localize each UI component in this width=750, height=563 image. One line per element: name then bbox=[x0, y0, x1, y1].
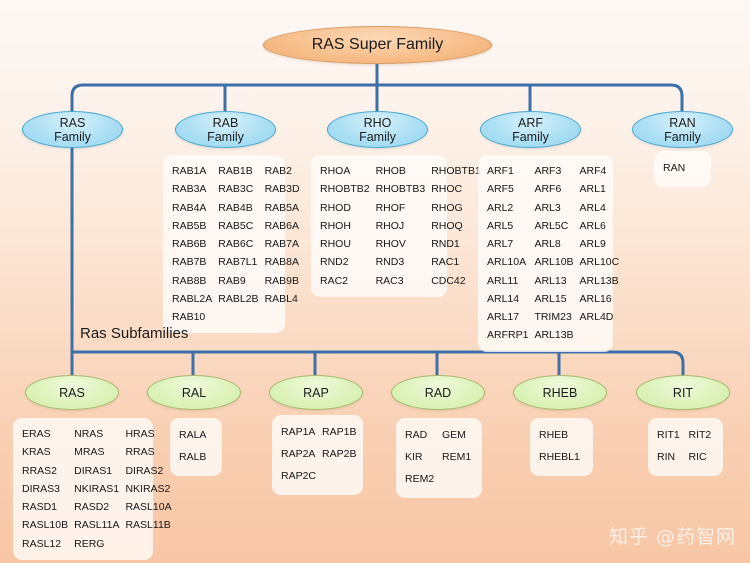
node-ras-super-family-label: RAS Super Family bbox=[312, 36, 444, 54]
gene-name: RASD2 bbox=[74, 499, 119, 515]
gene-name: ARL8 bbox=[534, 236, 573, 252]
gene-name: RHOD bbox=[320, 200, 370, 216]
gene-name: RAB9B bbox=[265, 273, 300, 289]
gene-name: RAC1 bbox=[431, 254, 481, 270]
node-subfamily-ral[interactable]: RAL bbox=[147, 375, 241, 410]
node-family-rho[interactable]: RHO Family bbox=[327, 111, 428, 148]
gene-list-sub-rheb: RHEBRHEBL1 bbox=[539, 426, 584, 468]
gene-name: ARL5C bbox=[534, 218, 573, 234]
gene-name: RAP1B bbox=[322, 423, 356, 443]
gene-name: ARL1 bbox=[580, 181, 620, 197]
gene-name: RAB1A bbox=[172, 163, 212, 179]
gene-name: DIRAS2 bbox=[125, 463, 171, 479]
gene-name: RAD bbox=[405, 426, 436, 446]
wire-family-bus bbox=[72, 85, 682, 96]
node-family-arf[interactable]: ARF Family bbox=[480, 111, 581, 148]
wire-subfamily-bus bbox=[72, 352, 683, 363]
gene-name: RASL10B bbox=[22, 517, 68, 533]
gene-name: ARL11 bbox=[487, 273, 528, 289]
gene-name: ARF1 bbox=[487, 163, 528, 179]
node-subfamily-rheb-label: RHEB bbox=[543, 386, 578, 400]
gene-name: ARL2 bbox=[487, 200, 528, 216]
diagram-canvas: RAS Super Family RAS Family RAB Family R… bbox=[0, 0, 750, 563]
node-subfamily-ras[interactable]: RAS bbox=[25, 375, 119, 410]
watermark: 知乎 @药智网 bbox=[609, 522, 736, 549]
gene-name: RRAS2 bbox=[22, 463, 68, 479]
gene-name: RABL2A bbox=[172, 291, 212, 307]
gene-name: RASL11B bbox=[125, 517, 171, 533]
gene-name: RASL10A bbox=[125, 499, 171, 515]
gene-name: RAB4A bbox=[172, 200, 212, 216]
node-subfamily-rheb[interactable]: RHEB bbox=[513, 375, 607, 410]
gene-name: RIT1 bbox=[657, 426, 683, 446]
gene-list-sub-rad: RADGEMKIRREM1REM2 bbox=[405, 426, 473, 490]
gene-name: RAB2 bbox=[265, 163, 300, 179]
gene-name: RAP2A bbox=[281, 445, 316, 465]
gene-name: RAN bbox=[663, 159, 702, 179]
gene-name: ARL10C bbox=[580, 254, 620, 270]
gene-name: RAC3 bbox=[376, 273, 426, 289]
gene-name: RRAS bbox=[125, 444, 171, 460]
gene-name: RHOQ bbox=[431, 218, 481, 234]
gene-name: RAB10 bbox=[172, 309, 212, 325]
gene-name: RND2 bbox=[320, 254, 370, 270]
gene-name: ARL10A bbox=[487, 254, 528, 270]
gene-list-arf: ARF1ARF3ARF4ARF5ARF6ARL1ARL2ARL3ARL4ARL5… bbox=[487, 163, 604, 344]
gene-name: KRAS bbox=[22, 444, 68, 460]
gene-name: ARL13B bbox=[534, 327, 573, 343]
gene-name: RIT2 bbox=[689, 426, 715, 446]
gene-name: RND3 bbox=[376, 254, 426, 270]
gene-name: RHOC bbox=[431, 181, 481, 197]
gene-name: DIRAS3 bbox=[22, 481, 68, 497]
gene-name: RHOG bbox=[431, 200, 481, 216]
gene-list-sub-ral: RALARALB bbox=[179, 426, 213, 468]
gene-name: RASD1 bbox=[22, 499, 68, 515]
gene-name: CDC42 bbox=[431, 273, 481, 289]
node-family-arf-label: ARF Family bbox=[512, 116, 549, 144]
gene-name: RND1 bbox=[431, 236, 481, 252]
gene-list-sub-rap: RAP1ARAP1BRAP2ARAP2BRAP2C bbox=[281, 423, 354, 487]
gene-name: RIN bbox=[657, 448, 683, 468]
gene-name: RAB7L1 bbox=[218, 254, 258, 270]
gene-name: ARL5 bbox=[487, 218, 528, 234]
gene-name: RHOB bbox=[376, 163, 426, 179]
gene-name: GEM bbox=[442, 426, 473, 446]
node-subfamily-rit-label: RIT bbox=[673, 386, 693, 400]
gene-name: RAB6B bbox=[172, 236, 212, 252]
gene-panel-sub-rap: RAP1ARAP1BRAP2ARAP2BRAP2C bbox=[272, 415, 363, 495]
gene-name: RASL12 bbox=[22, 536, 68, 552]
gene-name: RAB5C bbox=[218, 218, 258, 234]
gene-name: ARL13B bbox=[580, 273, 620, 289]
gene-name: RABL4 bbox=[265, 291, 300, 307]
gene-name: ARL17 bbox=[487, 309, 528, 325]
node-ras-super-family[interactable]: RAS Super Family bbox=[263, 26, 492, 64]
gene-name: ARF6 bbox=[534, 181, 573, 197]
gene-name: MRAS bbox=[74, 444, 119, 460]
gene-name: NKIRAS1 bbox=[74, 481, 119, 497]
gene-panel-sub-ras: ERASNRASHRASKRASMRASRRASRRAS2DIRAS1DIRAS… bbox=[13, 418, 153, 560]
gene-name: KIR bbox=[405, 448, 436, 468]
gene-name: RAB3D bbox=[265, 181, 300, 197]
gene-list-rab: RAB1ARAB1BRAB2RAB3ARAB3CRAB3DRAB4ARAB4BR… bbox=[172, 163, 276, 325]
gene-name: ARFRP1 bbox=[487, 327, 528, 343]
gene-name: RHOH bbox=[320, 218, 370, 234]
gene-panel-arf: ARF1ARF3ARF4ARF5ARF6ARL1ARL2ARL3ARL4ARL5… bbox=[478, 155, 613, 352]
node-subfamily-rad-label: RAD bbox=[425, 386, 451, 400]
node-family-rho-label: RHO Family bbox=[359, 116, 396, 144]
node-family-rab-label: RAB Family bbox=[207, 116, 244, 144]
gene-name: DIRAS1 bbox=[74, 463, 119, 479]
gene-list-rho: RHOARHOBRHOBTB1RHOBTB2RHOBTB3RHOCRHODRHO… bbox=[320, 163, 438, 289]
gene-name: RASL11A bbox=[74, 517, 119, 533]
gene-name: REM1 bbox=[442, 448, 473, 468]
gene-panel-rho: RHOARHOBRHOBTB1RHOBTB2RHOBTB3RHOCRHODRHO… bbox=[311, 155, 447, 297]
gene-name: REM2 bbox=[405, 470, 436, 490]
node-subfamily-rap-label: RAP bbox=[303, 386, 329, 400]
gene-name: RAB9 bbox=[218, 273, 258, 289]
node-family-ras-label: RAS Family bbox=[54, 116, 91, 144]
gene-name: ARL7 bbox=[487, 236, 528, 252]
gene-name: RAB3A bbox=[172, 181, 212, 197]
gene-name: RAP2B bbox=[322, 445, 356, 465]
gene-name: RHOBTB1 bbox=[431, 163, 481, 179]
gene-name: RHOV bbox=[376, 236, 426, 252]
node-subfamily-rad[interactable]: RAD bbox=[391, 375, 485, 410]
gene-name: RAC2 bbox=[320, 273, 370, 289]
gene-name: RAB6C bbox=[218, 236, 258, 252]
gene-name: RHEB bbox=[539, 426, 584, 446]
gene-name: RABL2B bbox=[218, 291, 258, 307]
gene-name: RHOA bbox=[320, 163, 370, 179]
gene-name: RAP1A bbox=[281, 423, 316, 443]
gene-name: ARL6 bbox=[580, 218, 620, 234]
node-subfamily-rap[interactable]: RAP bbox=[269, 375, 363, 410]
node-family-rab[interactable]: RAB Family bbox=[175, 111, 276, 148]
node-subfamily-ral-label: RAL bbox=[182, 386, 206, 400]
gene-name: ARF4 bbox=[580, 163, 620, 179]
gene-panel-sub-rheb: RHEBRHEBL1 bbox=[530, 418, 593, 476]
gene-panel-ran: RAN bbox=[654, 151, 711, 187]
gene-list-sub-ras: ERASNRASHRASKRASMRASRRASRRAS2DIRAS1DIRAS… bbox=[22, 426, 144, 552]
gene-name: RAB6A bbox=[265, 218, 300, 234]
gene-panel-sub-ral: RALARALB bbox=[170, 418, 222, 476]
gene-name: NKIRAS2 bbox=[125, 481, 171, 497]
gene-name: RAB8A bbox=[265, 254, 300, 270]
gene-name: RAB5B bbox=[172, 218, 212, 234]
gene-name: RAB8B bbox=[172, 273, 212, 289]
gene-name: ARL3 bbox=[534, 200, 573, 216]
gene-name: RHOBTB2 bbox=[320, 181, 370, 197]
gene-name: ERAS bbox=[22, 426, 68, 442]
gene-name: NRAS bbox=[74, 426, 119, 442]
gene-name: ARL4D bbox=[580, 309, 620, 325]
node-subfamily-ras-label: RAS bbox=[59, 386, 85, 400]
gene-name: RHOF bbox=[376, 200, 426, 216]
gene-name: RAB3C bbox=[218, 181, 258, 197]
gene-name: RIC bbox=[689, 448, 715, 468]
gene-name: RAB5A bbox=[265, 200, 300, 216]
gene-list-sub-rit: RIT1RIT2RINRIC bbox=[657, 426, 714, 468]
gene-name: ARL9 bbox=[580, 236, 620, 252]
gene-name: ARL4 bbox=[580, 200, 620, 216]
gene-panel-sub-rad: RADGEMKIRREM1REM2 bbox=[396, 418, 482, 498]
gene-name: RHOU bbox=[320, 236, 370, 252]
gene-name: RHOJ bbox=[376, 218, 426, 234]
gene-name: RAP2C bbox=[281, 467, 316, 487]
gene-name: RHEBL1 bbox=[539, 448, 584, 468]
gene-panel-sub-rit: RIT1RIT2RINRIC bbox=[648, 418, 723, 476]
node-family-ran[interactable]: RAN Family bbox=[632, 111, 733, 148]
gene-name: RHOBTB3 bbox=[376, 181, 426, 197]
gene-name: ARF5 bbox=[487, 181, 528, 197]
gene-name: RALB bbox=[179, 448, 213, 468]
gene-name: TRIM23 bbox=[534, 309, 573, 325]
gene-name: RAB1B bbox=[218, 163, 258, 179]
gene-name: ARL13 bbox=[534, 273, 573, 289]
gene-name: RAB7B bbox=[172, 254, 212, 270]
gene-name: ARF3 bbox=[534, 163, 573, 179]
gene-panel-rab: RAB1ARAB1BRAB2RAB3ARAB3CRAB3DRAB4ARAB4BR… bbox=[163, 155, 285, 333]
gene-name: RALA bbox=[179, 426, 213, 446]
node-family-ran-label: RAN Family bbox=[664, 116, 701, 144]
gene-list-ran: RAN bbox=[663, 159, 702, 179]
gene-name: ARL16 bbox=[580, 291, 620, 307]
section-heading-ras-subfamilies: Ras Subfamilies bbox=[80, 325, 188, 342]
gene-name: RERG bbox=[74, 536, 119, 552]
node-subfamily-rit[interactable]: RIT bbox=[636, 375, 730, 410]
gene-name: ARL14 bbox=[487, 291, 528, 307]
node-family-ras[interactable]: RAS Family bbox=[22, 111, 123, 148]
gene-name: ARL15 bbox=[534, 291, 573, 307]
gene-name: ARL10B bbox=[534, 254, 573, 270]
gene-name: RAB4B bbox=[218, 200, 258, 216]
gene-name: RAB7A bbox=[265, 236, 300, 252]
gene-name: HRAS bbox=[125, 426, 171, 442]
